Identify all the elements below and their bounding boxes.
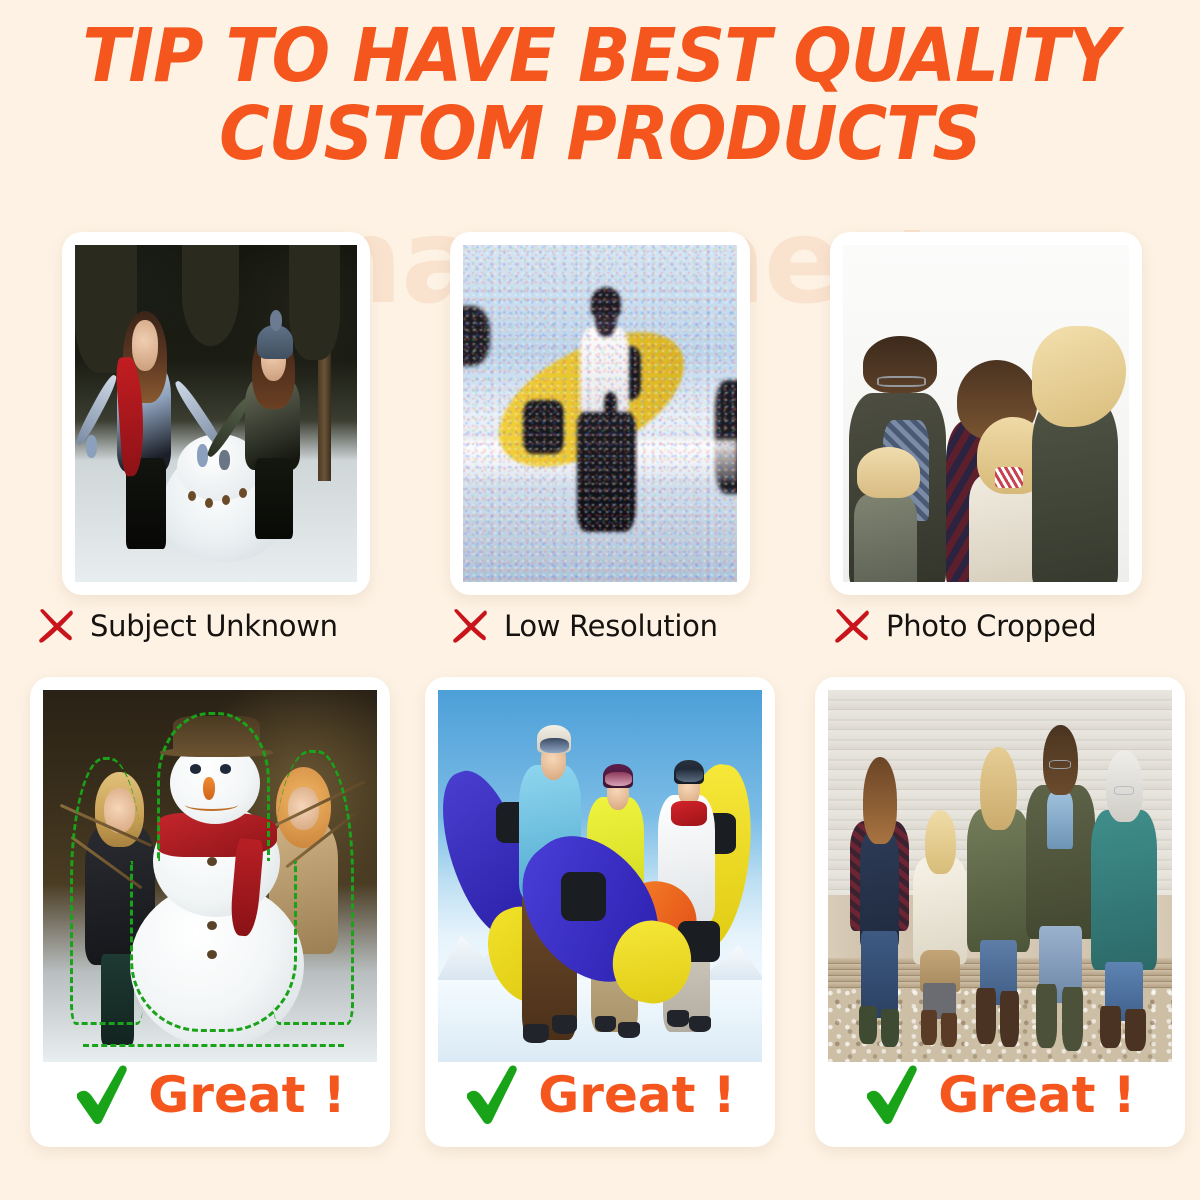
- photo-two-women-building-snow-pile-in-dark-forest: [75, 245, 357, 582]
- good-label-snowman: Great !: [30, 1051, 390, 1139]
- bad-label-text: Photo Cropped: [886, 609, 1096, 643]
- good-example-card-snowboarders[interactable]: Great !: [425, 677, 775, 1147]
- photo-family-of-five-in-front-of-wooden-barn-wall: [828, 690, 1172, 1062]
- check-mark-icon: [864, 1064, 922, 1126]
- photo-family-of-five-cropped-against-white-sky: [843, 245, 1129, 582]
- good-label-family-barn: Great !: [815, 1051, 1185, 1139]
- x-mark-icon: [36, 606, 76, 646]
- good-label-text: Great !: [538, 1066, 735, 1124]
- page-title-line-2: CUSTOM PRODUCTS: [42, 96, 1158, 174]
- photo-three-snowboarders-on-mountain-with-colored-boards: [438, 690, 762, 1062]
- bad-label-text: Low Resolution: [504, 609, 718, 643]
- x-mark-icon: [450, 606, 490, 646]
- page-title-line-1: TIP TO HAVE BEST QUALITY: [42, 18, 1158, 96]
- bad-label-low-resolution: Low Resolution: [450, 606, 718, 646]
- good-label-text: Great !: [148, 1066, 345, 1124]
- examples-grid: Subject Unknown Low Resolution Photo Cro…: [0, 0, 1200, 1200]
- good-label-snowboarders: Great !: [425, 1051, 775, 1139]
- green-dashed-subject-outline: [43, 690, 377, 1062]
- good-example-card-snowman[interactable]: Great !: [30, 677, 390, 1147]
- check-mark-icon: [464, 1064, 522, 1126]
- bad-example-card-low-resolution[interactable]: [450, 232, 750, 595]
- photo-two-women-with-snowman-green-dashed-subject-outline: [43, 690, 377, 1062]
- photo-pixelated-noisy-snowboarder-carrying-yellow-board: [463, 245, 737, 582]
- page-title: TIP TO HAVE BEST QUALITY CUSTOM PRODUCTS: [42, 18, 1158, 173]
- check-mark-icon: [74, 1064, 132, 1126]
- bad-label-subject-unknown: Subject Unknown: [36, 606, 338, 646]
- good-label-text: Great !: [938, 1066, 1135, 1124]
- x-mark-icon: [832, 606, 872, 646]
- bad-example-card-subject-unknown[interactable]: [62, 232, 370, 595]
- bad-label-photo-cropped: Photo Cropped: [832, 606, 1096, 646]
- good-example-card-family-barn[interactable]: Great !: [815, 677, 1185, 1147]
- bad-example-card-photo-cropped[interactable]: [830, 232, 1142, 595]
- bad-label-text: Subject Unknown: [90, 609, 338, 643]
